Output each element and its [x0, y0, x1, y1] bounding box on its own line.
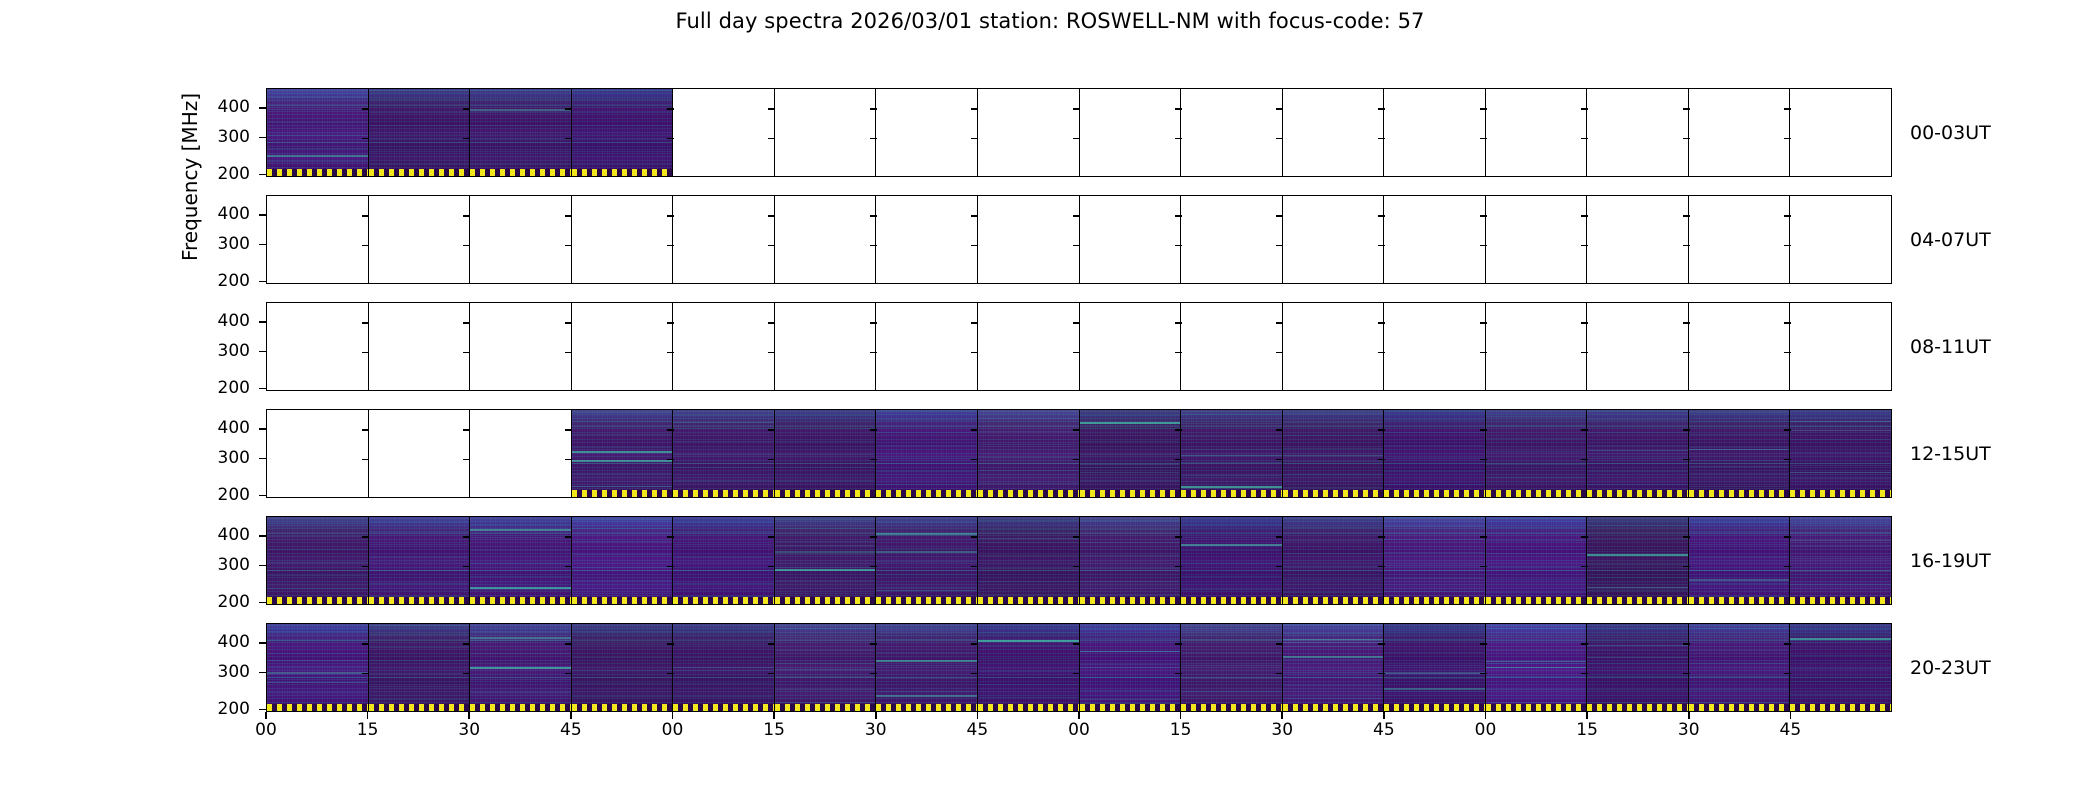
spectrogram-panel[interactable] [673, 624, 775, 711]
spectrogram-image [1587, 517, 1688, 604]
spectrogram-panel[interactable] [1486, 517, 1588, 604]
spectrogram-image [775, 410, 876, 497]
spectrogram-panel-empty[interactable] [876, 89, 978, 176]
spectrogram-panel[interactable] [572, 624, 674, 711]
x-tick-mark [977, 712, 979, 719]
spectrogram-image [1080, 624, 1181, 711]
spectrogram-panel[interactable] [1587, 517, 1689, 604]
x-tick-label: 30 [856, 722, 896, 739]
y-tick-label: 300 [194, 664, 250, 681]
spectrogram-panel-empty[interactable] [673, 303, 775, 390]
spectrogram-panel-empty[interactable] [1486, 196, 1588, 283]
y-tick-mark [259, 351, 266, 353]
spectrogram-panel-empty[interactable] [470, 196, 572, 283]
spectrogram-panel[interactable] [1181, 517, 1283, 604]
spectrogram-panel[interactable] [1384, 410, 1486, 497]
x-tick-label: 45 [551, 722, 591, 739]
x-tick-mark [1281, 712, 1283, 719]
spectrogram-image [673, 410, 774, 497]
spectrogram-panel-empty[interactable] [369, 410, 471, 497]
spectrogram-image [1181, 624, 1282, 711]
y-tick-mark [259, 388, 266, 390]
spectrogram-panel-empty[interactable] [673, 89, 775, 176]
spectrogram-panel-empty[interactable] [1587, 196, 1689, 283]
spectrogram-image [775, 624, 876, 711]
spectrogram-image [1283, 624, 1384, 711]
spectrogram-panel-empty[interactable] [673, 196, 775, 283]
y-tick-label: 400 [194, 420, 250, 437]
y-tick-label: 200 [194, 487, 250, 504]
spectrogram-image [1689, 410, 1790, 497]
spectrogram-image [1384, 410, 1485, 497]
spectrogram-panel[interactable] [775, 624, 877, 711]
y-tick-label: 300 [194, 129, 250, 146]
ut-row-label: 08-11UT [1910, 336, 1991, 358]
spectrogram-panel-empty[interactable] [1080, 303, 1182, 390]
spectrogram-panel[interactable] [978, 517, 1080, 604]
spectrogram-panel-empty[interactable] [1384, 303, 1486, 390]
y-tick-label: 300 [194, 557, 250, 574]
spectrogram-panel[interactable] [1283, 517, 1385, 604]
spectrogram-image [1486, 410, 1587, 497]
spectrogram-panel[interactable] [1384, 624, 1486, 711]
y-tick-label: 200 [194, 273, 250, 290]
spectrogram-image [572, 410, 673, 497]
spectrogram-panel-empty[interactable] [1283, 89, 1385, 176]
spectrogram-row-04-07ut[interactable] [266, 195, 1892, 284]
y-tick-mark [259, 672, 266, 674]
spectrogram-image [369, 517, 470, 604]
x-tick-label: 15 [348, 722, 388, 739]
x-tick-mark [570, 712, 572, 719]
spectrogram-panel-empty[interactable] [369, 196, 471, 283]
spectrogram-panel-empty[interactable] [1790, 196, 1891, 283]
spectrogram-panel-empty[interactable] [572, 303, 674, 390]
spectrogram-image [876, 624, 977, 711]
spectrogram-image [1486, 624, 1587, 711]
spectrogram-image [1181, 517, 1282, 604]
x-tick-label: 45 [1364, 722, 1404, 739]
x-tick-mark [1180, 712, 1182, 719]
spectrogram-panel[interactable] [1587, 624, 1689, 711]
spectrogram-panel-empty[interactable] [1384, 196, 1486, 283]
spectrogram-grid [266, 88, 1892, 715]
spectrogram-panel-empty[interactable] [369, 303, 471, 390]
spectrogram-panel-empty[interactable] [1384, 89, 1486, 176]
x-tick-mark [672, 712, 674, 719]
spectrogram-image [978, 624, 1079, 711]
spectrogram-panel-empty[interactable] [470, 410, 572, 497]
row-panels [267, 410, 1891, 497]
y-tick-mark [259, 244, 266, 246]
spectrogram-panel-empty[interactable] [1486, 89, 1588, 176]
x-tick-label: 30 [449, 722, 489, 739]
spectrogram-image [978, 410, 1079, 497]
x-tick-label: 00 [246, 722, 286, 739]
x-tick-mark [1586, 712, 1588, 719]
spectrogram-image [267, 517, 368, 604]
x-tick-label: 45 [1770, 722, 1810, 739]
spectrogram-panel-empty[interactable] [1283, 303, 1385, 390]
spectrogram-panel-empty[interactable] [978, 196, 1080, 283]
spectrogram-panel-empty[interactable] [876, 196, 978, 283]
x-tick-mark [468, 712, 470, 719]
row-panels [267, 196, 1891, 283]
spectrogram-row-00-03ut[interactable] [266, 88, 1892, 177]
spectrogram-image [470, 89, 571, 176]
spectrogram-panel[interactable] [1181, 624, 1283, 711]
spectrogram-panel-empty[interactable] [470, 303, 572, 390]
y-tick-mark [259, 137, 266, 139]
spectrogram-panel[interactable] [1486, 624, 1588, 711]
y-tick-label: 200 [194, 166, 250, 183]
spectrogram-image [572, 89, 673, 176]
spectrogram-row-20-23ut[interactable] [266, 623, 1892, 712]
spectrogram-image [470, 517, 571, 604]
x-tick-label: 15 [754, 722, 794, 739]
spectrogram-panel-empty[interactable] [572, 196, 674, 283]
spectrogram-panel-empty[interactable] [876, 303, 978, 390]
spectrogram-panel-empty[interactable] [1080, 196, 1182, 283]
y-tick-mark [259, 321, 266, 323]
x-tick-label: 30 [1669, 722, 1709, 739]
y-tick-label: 400 [194, 206, 250, 223]
x-tick-label: 15 [1567, 722, 1607, 739]
spectrogram-image [369, 89, 470, 176]
x-tick-mark [773, 712, 775, 719]
spectrogram-panel[interactable] [876, 410, 978, 497]
row-panels [267, 89, 1891, 176]
spectrogram-image [876, 410, 977, 497]
spectrogram-panel[interactable] [775, 517, 877, 604]
x-tick-label: 45 [957, 722, 997, 739]
x-tick-mark [1078, 712, 1080, 719]
spectrogram-panel[interactable] [978, 624, 1080, 711]
spectrogram-image [876, 517, 977, 604]
spectrogram-panel[interactable] [1080, 624, 1182, 711]
x-tick-mark [1688, 712, 1690, 719]
spectrogram-image [775, 517, 876, 604]
spectrogram-image [1689, 517, 1790, 604]
spectrogram-panel[interactable] [1689, 517, 1791, 604]
y-tick-mark [259, 174, 266, 176]
y-tick-mark [259, 428, 266, 430]
spectrogram-panel[interactable] [369, 89, 471, 176]
y-tick-mark [259, 535, 266, 537]
spectrogram-image [369, 624, 470, 711]
spectrogram-panel-empty[interactable] [1790, 89, 1891, 176]
y-tick-mark [259, 709, 266, 711]
spectrogram-panel[interactable] [1080, 410, 1182, 497]
ut-row-label: 20-23UT [1910, 657, 1991, 679]
page-title: Full day spectra 2026/03/01 station: ROS… [0, 9, 2100, 33]
spectrogram-image [1486, 517, 1587, 604]
spectrogram-image [1283, 517, 1384, 604]
spectrogram-panel[interactable] [267, 517, 369, 604]
ut-row-label: 00-03UT [1910, 122, 1991, 144]
spectrogram-panel[interactable] [572, 410, 674, 497]
spectrogram-panel[interactable] [1790, 624, 1891, 711]
spectrogram-panel-empty[interactable] [1283, 196, 1385, 283]
spectrogram-panel-empty[interactable] [978, 89, 1080, 176]
spectrogram-image [267, 624, 368, 711]
spectrogram-image [267, 89, 368, 176]
x-tick-mark [367, 712, 369, 719]
spectrogram-image [1283, 410, 1384, 497]
spectrogram-image [470, 624, 571, 711]
spectrogram-panel[interactable] [470, 624, 572, 711]
spectrogram-panel[interactable] [1486, 410, 1588, 497]
spectrogram-image [1790, 624, 1891, 711]
row-panels [267, 303, 1891, 390]
spectrogram-image [1080, 410, 1181, 497]
spectrogram-panel[interactable] [369, 517, 471, 604]
spectrogram-panel[interactable] [369, 624, 471, 711]
y-tick-label: 200 [194, 594, 250, 611]
spectrogram-panel-empty[interactable] [775, 89, 877, 176]
x-tick-label: 00 [1059, 722, 1099, 739]
spectrogram-panel[interactable] [470, 89, 572, 176]
spectrogram-panel-empty[interactable] [267, 303, 369, 390]
spectrogram-panel[interactable] [673, 517, 775, 604]
ut-row-label: 04-07UT [1910, 229, 1991, 251]
spectrogram-panel[interactable] [1283, 410, 1385, 497]
x-tick-mark [1790, 712, 1792, 719]
spectrogram-panel-empty[interactable] [1080, 89, 1182, 176]
spectrogram-image [572, 517, 673, 604]
y-tick-label: 400 [194, 527, 250, 544]
spectrogram-image [1790, 410, 1891, 497]
spectrogram-panel[interactable] [572, 89, 674, 176]
spectrogram-image [1790, 517, 1891, 604]
spectrogram-panel[interactable] [876, 624, 978, 711]
spectrogram-panel[interactable] [876, 517, 978, 604]
y-tick-label: 400 [194, 634, 250, 651]
spectrogram-image [1384, 517, 1485, 604]
spectrogram-panel[interactable] [267, 624, 369, 711]
y-tick-label: 300 [194, 236, 250, 253]
spectrogram-panel-empty[interactable] [1587, 303, 1689, 390]
y-tick-label: 300 [194, 343, 250, 360]
spectrogram-panel-empty[interactable] [1689, 196, 1791, 283]
spectrogram-panel-empty[interactable] [1689, 89, 1791, 176]
spectrogram-panel[interactable] [1181, 410, 1283, 497]
spectrogram-row-12-15ut[interactable] [266, 409, 1892, 498]
spectrogram-panel[interactable] [775, 410, 877, 497]
y-tick-mark [259, 495, 266, 497]
y-tick-mark [259, 281, 266, 283]
y-tick-mark [259, 565, 266, 567]
x-tick-mark [1383, 712, 1385, 719]
spectrogram-panel-empty[interactable] [1181, 89, 1283, 176]
y-tick-mark [259, 107, 266, 109]
spectrogram-panel[interactable] [1790, 517, 1891, 604]
spectrogram-image [1080, 517, 1181, 604]
spectrogram-panel[interactable] [1689, 624, 1791, 711]
ut-row-label: 12-15UT [1910, 443, 1991, 465]
x-tick-mark [265, 712, 267, 719]
spectrogram-panel-empty[interactable] [1689, 303, 1791, 390]
x-tick-label: 00 [653, 722, 693, 739]
spectrogram-panel-empty[interactable] [1587, 89, 1689, 176]
row-panels [267, 517, 1891, 604]
ut-row-label: 16-19UT [1910, 550, 1991, 572]
x-tick-label: 30 [1262, 722, 1302, 739]
spectrogram-image [673, 624, 774, 711]
y-tick-label: 200 [194, 701, 250, 718]
spectrogram-panel[interactable] [673, 410, 775, 497]
spectrogram-image [1689, 624, 1790, 711]
spectrogram-panel-empty[interactable] [775, 196, 877, 283]
spectrogram-row-16-19ut[interactable] [266, 516, 1892, 605]
spectrogram-panel[interactable] [1689, 410, 1791, 497]
spectrogram-image [1587, 410, 1688, 497]
spectrogram-panel[interactable] [978, 410, 1080, 497]
spectrogram-image [673, 517, 774, 604]
spectrogram-panel-empty[interactable] [1486, 303, 1588, 390]
y-tick-mark [259, 642, 266, 644]
spectrogram-image [572, 624, 673, 711]
x-tick-label: 15 [1161, 722, 1201, 739]
spectrogram-panel-empty[interactable] [775, 303, 877, 390]
spectrogram-row-08-11ut[interactable] [266, 302, 1892, 391]
spectrogram-panel-empty[interactable] [978, 303, 1080, 390]
y-tick-label: 400 [194, 313, 250, 330]
spectrogram-panel-empty[interactable] [267, 196, 369, 283]
y-tick-mark [259, 214, 266, 216]
spectrogram-panel[interactable] [470, 517, 572, 604]
spectrogram-panel[interactable] [267, 89, 369, 176]
spectrogram-image [1384, 624, 1485, 711]
spectrogram-image [978, 517, 1079, 604]
x-tick-mark [875, 712, 877, 719]
spectrogram-panel[interactable] [1080, 517, 1182, 604]
y-tick-label: 400 [194, 99, 250, 116]
spectrogram-image [1181, 410, 1282, 497]
spectrogram-panel[interactable] [1587, 410, 1689, 497]
spectrogram-panel[interactable] [572, 517, 674, 604]
spectrogram-panel-empty[interactable] [1181, 303, 1283, 390]
y-tick-mark [259, 602, 266, 604]
y-tick-label: 200 [194, 380, 250, 397]
spectrogram-panel-empty[interactable] [267, 410, 369, 497]
x-tick-label: 00 [1466, 722, 1506, 739]
spectrogram-panel-empty[interactable] [1181, 196, 1283, 283]
spectrogram-panel[interactable] [1384, 517, 1486, 604]
spectrogram-panel[interactable] [1790, 410, 1891, 497]
spectrogram-image [1587, 624, 1688, 711]
spectrogram-panel[interactable] [1283, 624, 1385, 711]
x-tick-mark [1485, 712, 1487, 719]
y-tick-label: 300 [194, 450, 250, 467]
row-panels [267, 624, 1891, 711]
y-tick-mark [259, 458, 266, 460]
spectrogram-panel-empty[interactable] [1790, 303, 1891, 390]
